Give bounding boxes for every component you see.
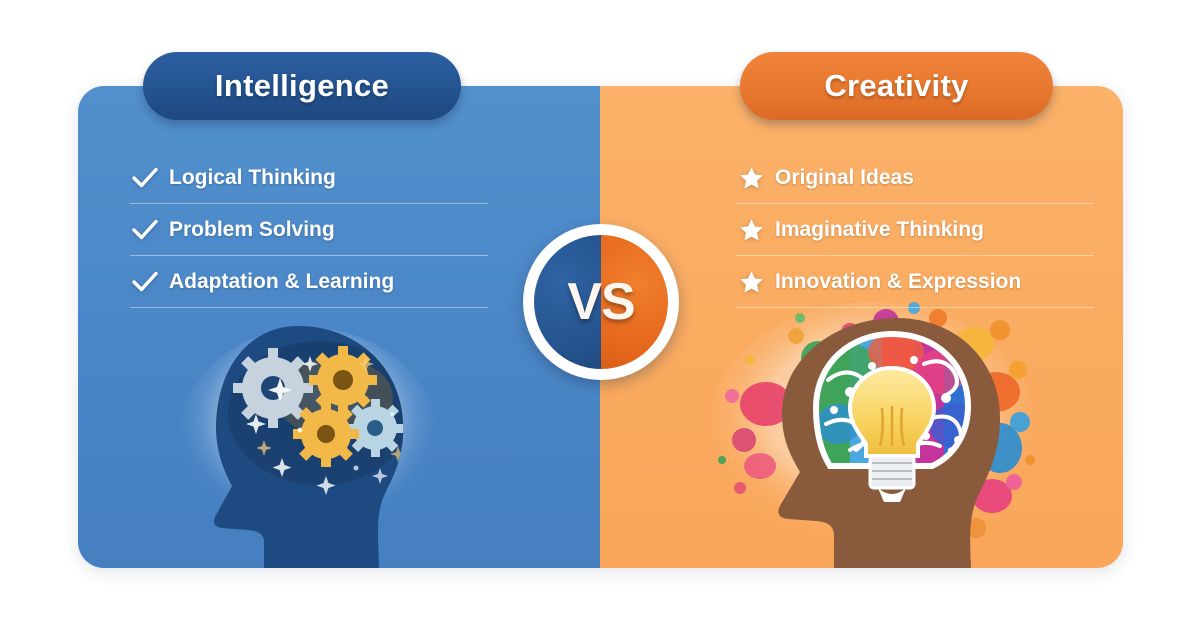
creativity-feature-list: Original Ideas Imaginative Thinking Inno… xyxy=(736,152,1076,308)
left-panel-title: Intelligence xyxy=(215,68,389,104)
versus-badge-inner: VS xyxy=(534,235,668,369)
list-item: Original Ideas xyxy=(736,152,1076,204)
right-panel-title-pill: Creativity xyxy=(740,52,1053,120)
check-icon xyxy=(130,165,160,191)
list-item-label: Logical Thinking xyxy=(169,166,336,190)
star-icon xyxy=(736,165,766,191)
versus-badge: VS xyxy=(523,224,679,380)
list-item: Adaptation & Learning xyxy=(130,256,470,308)
versus-label: VS xyxy=(567,272,634,332)
intelligence-illustration xyxy=(160,318,450,568)
list-item: Logical Thinking xyxy=(130,152,470,204)
creativity-illustration xyxy=(700,300,1035,568)
star-icon xyxy=(736,269,766,295)
list-item-label: Adaptation & Learning xyxy=(169,270,394,294)
right-panel-title: Creativity xyxy=(824,68,968,104)
left-panel-title-pill: Intelligence xyxy=(143,52,461,120)
check-icon xyxy=(130,269,160,295)
intelligence-feature-list: Logical Thinking Problem Solving Adaptat… xyxy=(130,152,470,308)
list-item: Imaginative Thinking xyxy=(736,204,1076,256)
list-item-label: Original Ideas xyxy=(775,166,914,190)
infographic-canvas: Intelligence Creativity Logical Thinking… xyxy=(0,0,1200,628)
list-item: Innovation & Expression xyxy=(736,256,1076,308)
list-item-label: Imaginative Thinking xyxy=(775,218,984,242)
check-icon xyxy=(130,217,160,243)
list-item-label: Problem Solving xyxy=(169,218,335,242)
list-item: Problem Solving xyxy=(130,204,470,256)
star-icon xyxy=(736,217,766,243)
list-item-label: Innovation & Expression xyxy=(775,270,1021,294)
